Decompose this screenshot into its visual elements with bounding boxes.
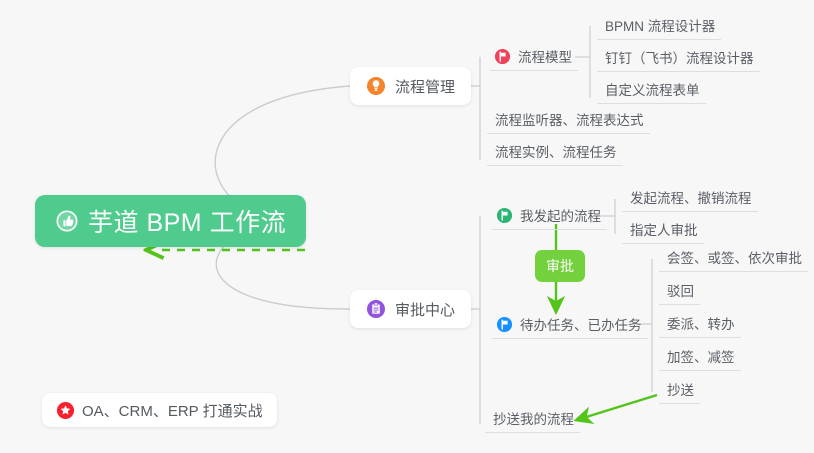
flag-icon	[496, 316, 513, 333]
node-todo-done-tasks-label: 待办任务、已办任务	[520, 314, 642, 334]
branch-process-management-label: 流程管理	[395, 76, 455, 97]
footnote-node[interactable]: OA、CRM、ERP 打通实战	[42, 393, 277, 427]
node-cc-label: 抄送	[667, 379, 694, 399]
mindmap-canvas: 芋道 BPM 工作流 OA、CRM、ERP 打通实战 流程管理	[0, 0, 814, 453]
root-node-label: 芋道 BPM 工作流	[88, 203, 286, 239]
node-custom-form-label: 自定义流程表单	[605, 79, 700, 99]
clipboard-icon	[366, 299, 386, 319]
star-icon	[56, 401, 75, 420]
node-my-initiated-label: 我发起的流程	[520, 205, 601, 225]
approval-badge[interactable]: 审批	[535, 250, 585, 282]
node-delegate-transfer[interactable]: 委派、转办	[659, 309, 741, 338]
node-add-remove-sign[interactable]: 加签、减签	[659, 342, 741, 371]
node-todo-done-tasks[interactable]: 待办任务、已办任务	[492, 310, 648, 339]
node-custom-form[interactable]: 自定义流程表单	[597, 75, 706, 104]
footnote-label: OA、CRM、ERP 打通实战	[82, 400, 263, 421]
node-cc-to-me[interactable]: 抄送我的流程	[485, 404, 580, 433]
node-instance-task-label: 流程实例、流程任务	[495, 141, 617, 161]
node-countersign[interactable]: 会签、或签、依次审批	[659, 243, 808, 272]
node-bpmn-designer[interactable]: BPMN 流程设计器	[597, 11, 721, 40]
branch-approval-center[interactable]: 审批中心	[350, 290, 471, 328]
node-dingtalk-designer-label: 钉钉（飞书）流程设计器	[605, 47, 754, 67]
node-dingtalk-designer[interactable]: 钉钉（飞书）流程设计器	[597, 43, 760, 72]
node-listener-expression[interactable]: 流程监听器、流程表达式	[487, 105, 650, 134]
approval-badge-label: 审批	[546, 256, 574, 276]
flag-icon	[496, 207, 513, 224]
node-start-cancel-process[interactable]: 发起流程、撤销流程	[622, 183, 758, 212]
node-cc-to-me-label: 抄送我的流程	[493, 408, 574, 428]
edge-cc-to-my-flow	[583, 395, 657, 418]
node-listener-expression-label: 流程监听器、流程表达式	[495, 109, 644, 129]
node-reject-label: 驳回	[667, 280, 694, 300]
root-node[interactable]: 芋道 BPM 工作流	[35, 195, 306, 247]
node-process-model[interactable]: 流程模型	[490, 42, 578, 71]
node-my-initiated[interactable]: 我发起的流程	[492, 201, 607, 230]
node-process-model-label: 流程模型	[518, 46, 572, 66]
node-bpmn-designer-label: BPMN 流程设计器	[605, 15, 715, 35]
node-assignee-approval-label: 指定人审批	[630, 219, 698, 239]
node-instance-task[interactable]: 流程实例、流程任务	[487, 137, 623, 166]
node-delegate-transfer-label: 委派、转办	[667, 313, 735, 333]
node-assignee-approval[interactable]: 指定人审批	[622, 215, 704, 244]
lightbulb-icon	[366, 76, 386, 96]
node-add-remove-sign-label: 加签、减签	[667, 346, 735, 366]
branch-approval-center-label: 审批中心	[395, 299, 455, 320]
node-start-cancel-process-label: 发起流程、撤销流程	[630, 187, 752, 207]
branch-process-management[interactable]: 流程管理	[350, 67, 471, 105]
thumbs-up-icon	[55, 209, 79, 233]
node-cc[interactable]: 抄送	[659, 375, 700, 404]
flag-icon	[494, 48, 511, 65]
node-reject[interactable]: 驳回	[659, 276, 700, 305]
node-countersign-label: 会签、或签、依次审批	[667, 247, 802, 267]
